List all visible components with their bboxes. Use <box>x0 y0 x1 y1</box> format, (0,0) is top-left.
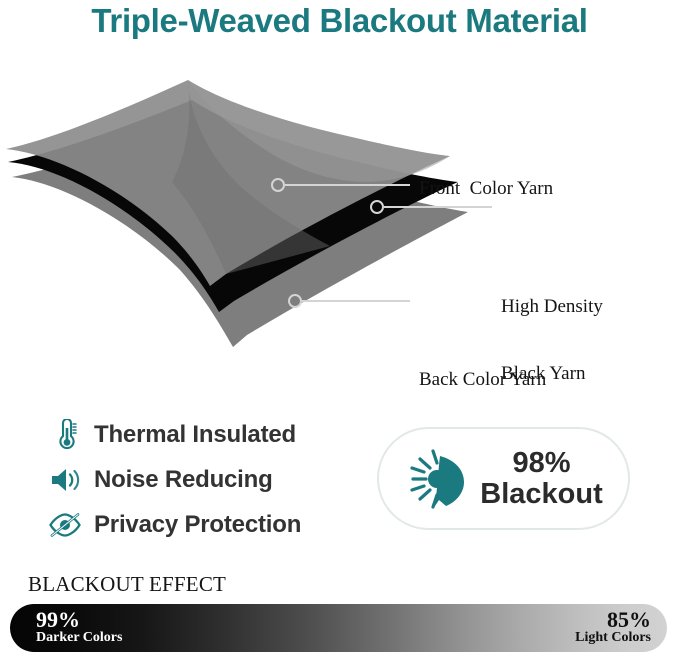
feature-label-noise-reducing: Noise Reducing <box>94 466 273 494</box>
callout-label-front-color-yarn: Front Color Yarn <box>419 178 553 200</box>
speaker-sound-icon <box>46 463 84 497</box>
light-colors-caption: Light Colors <box>575 631 651 645</box>
blackout-percent: 98% <box>480 448 602 478</box>
feature-list: Thermal Insulated Noise Reducing Privacy… <box>46 412 356 547</box>
callout-label-back-color-yarn: Back Color Yarn <box>419 369 546 391</box>
feature-item-noise-reducing: Noise Reducing <box>46 457 356 502</box>
feature-item-privacy-protection: Privacy Protection <box>46 502 356 547</box>
page-title: Triple-Weaved Blackout Material <box>0 2 679 40</box>
blackout-word: Blackout <box>480 479 602 509</box>
blackout-badge-text: 98% Blackout <box>480 448 602 508</box>
light-colors-percent: 85% <box>575 609 651 631</box>
darker-colors-percent: 99% <box>36 609 122 631</box>
feature-item-thermal-insulated: Thermal Insulated <box>46 412 356 457</box>
feature-label-thermal-insulated: Thermal Insulated <box>94 421 296 449</box>
darker-colors-caption: Darker Colors <box>36 631 122 645</box>
callout-label-high-density-black-yarn: High Density Black Yarn <box>501 251 603 430</box>
blackout-effect-darker-colors: 99% Darker Colors <box>36 609 122 646</box>
feature-label-privacy-protection: Privacy Protection <box>94 511 301 539</box>
thermometer-icon <box>46 418 84 452</box>
sun-blocked-curtain-icon <box>404 442 478 516</box>
callout-mid-line1: High Density <box>501 296 603 318</box>
blackout-effect-light-colors: 85% Light Colors <box>575 609 651 646</box>
blackout-badge: 98% Blackout <box>377 427 630 530</box>
triple-layer-fabric-diagram: Front Color Yarn High Density Black Yarn… <box>0 70 679 360</box>
blackout-effect-heading: BLACKOUT EFFECT <box>28 572 226 597</box>
eye-slash-icon <box>46 508 84 542</box>
